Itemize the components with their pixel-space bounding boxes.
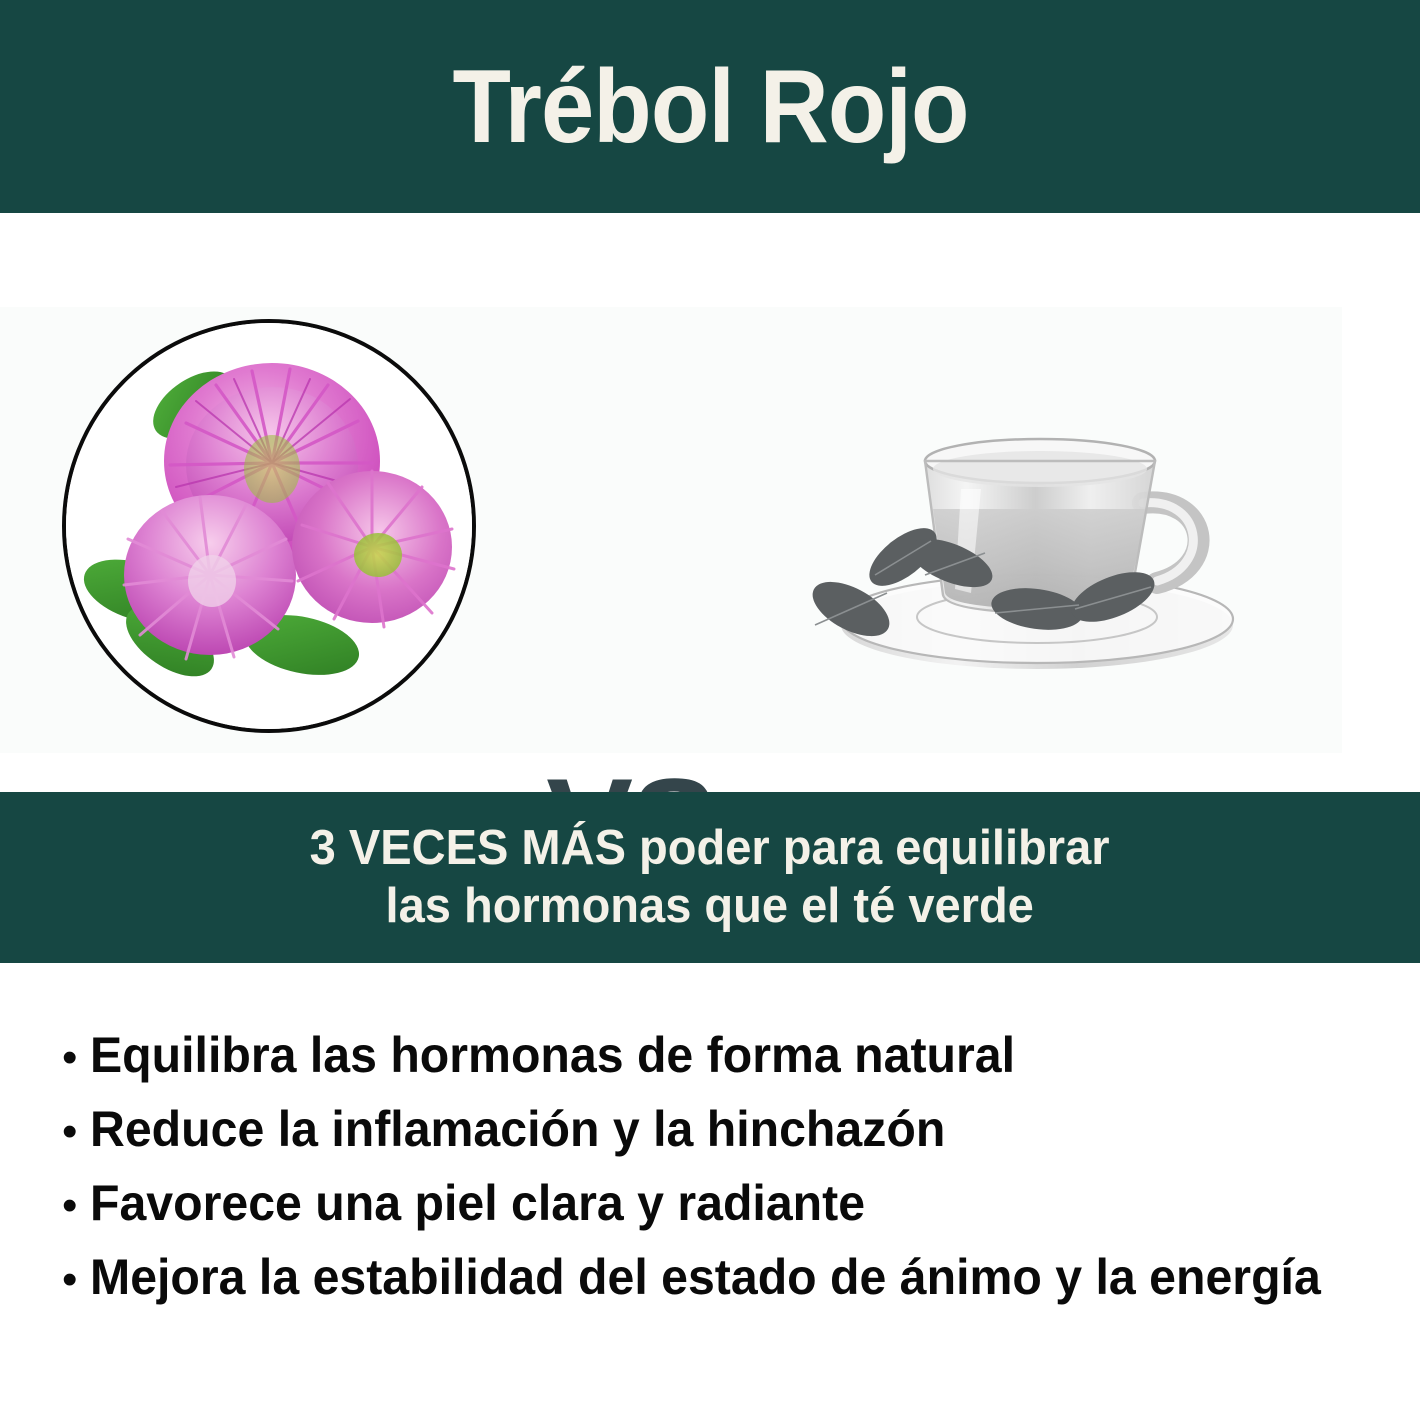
claim-line-1: 3 VECES MÁS poder para equilibrar [310,820,1110,877]
bullet-icon: • [62,1184,90,1228]
comparison-band: VS [0,307,1342,753]
benefits-list: • Equilibra las hormonas de forma natura… [62,1030,1392,1326]
benefit-text: Mejora la estabilidad del estado de ánim… [90,1252,1321,1302]
benefit-text: Equilibra las hormonas de forma natural [90,1030,1015,1080]
list-item: • Equilibra las hormonas de forma natura… [62,1030,1392,1104]
green-tea-cup-illustration [775,397,1275,697]
header-band: Trébol Rojo [0,0,1420,213]
bullet-icon: • [62,1110,90,1154]
claim-banner: 3 VECES MÁS poder para equilibrar las ho… [0,792,1420,963]
bullet-icon: • [62,1036,90,1080]
benefit-text: Reduce la inflamación y la hinchazón [90,1104,945,1154]
benefit-text: Favorece una piel clara y radiante [90,1178,865,1228]
list-item: • Reduce la inflamación y la hinchazón [62,1104,1392,1178]
list-item: • Mejora la estabilidad del estado de án… [62,1252,1392,1326]
red-clover-flower-icon [66,323,472,729]
bullet-icon: • [62,1258,90,1302]
list-item: • Favorece una piel clara y radiante [62,1178,1392,1252]
glass-teacup-icon [775,397,1275,697]
claim-line-2: las hormonas que el té verde [386,878,1034,935]
red-clover-circle-frame [62,319,476,733]
infographic-poster: Trébol Rojo [0,0,1420,1420]
page-title: Trébol Rojo [452,55,968,159]
